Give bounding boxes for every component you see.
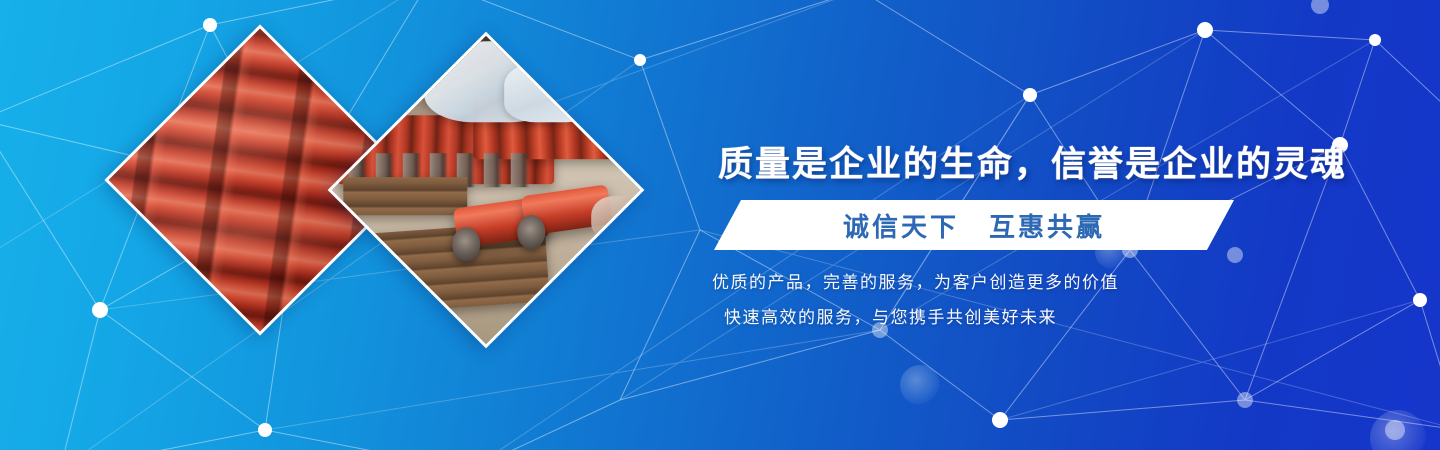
shaft-flange-hub xyxy=(517,215,545,249)
slogan-right: 互惠共赢 xyxy=(989,207,1105,244)
banner-subline-2: 快速高效的服务，与您携手共创美好未来 xyxy=(724,303,1057,328)
wooden-pallet xyxy=(344,178,468,215)
slogan-text-group: 诚信天下 互惠共赢 xyxy=(714,200,1234,250)
shaft-flange-hub xyxy=(452,227,480,261)
slogan-banner: 诚信天下 互惠共赢 xyxy=(714,200,1234,250)
promo-banner: 质量是企业的生命，信誉是企业的灵魂 诚信天下 互惠共赢 优质的产品，完善的服务，… xyxy=(0,0,1440,450)
slogan-left: 诚信天下 xyxy=(843,207,959,244)
banner-headline: 质量是企业的生命，信誉是企业的灵魂 xyxy=(718,136,1347,187)
banner-subline-1: 优质的产品，完善的服务，为客户创造更多的价值 xyxy=(712,268,1119,293)
